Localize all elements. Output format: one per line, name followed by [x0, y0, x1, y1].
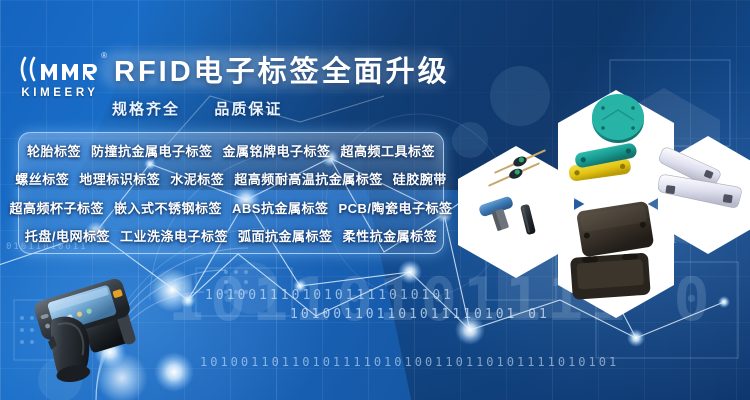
product-tag-label: 超高频工具标签	[341, 141, 436, 160]
product-tag-label: 防撞抗金属电子标签	[91, 141, 213, 160]
product-tag-label: 金属铭牌电子标签	[223, 141, 331, 160]
product-tag-label: 柔性抗金属标签	[343, 226, 438, 245]
glow-accent-1	[150, 268, 194, 312]
product-tag-label: 工业洗涤电子标签	[120, 226, 228, 245]
binary-text-mid-3: 1010011011010111101010011011010111101010…	[200, 355, 619, 369]
brand-name: KIMEERY	[14, 87, 106, 99]
binary-text-mid-1: 10100111010101111010101	[205, 288, 454, 303]
product-tag-label: 超高频杯子标签	[9, 198, 104, 217]
product-tag-label: 螺丝标签	[15, 169, 69, 188]
product-tag-label: 弧面抗金属标签	[238, 226, 333, 245]
tag-row: 轮胎标签防撞抗金属电子标签金属铭牌电子标签超高频工具标签	[19, 137, 443, 164]
subtitle-left: 规格齐全	[112, 101, 180, 118]
glow-accent-2	[96, 352, 148, 400]
tag-row: 超高频杯子标签嵌入式不锈钢标签ABS抗金属标签PCB/陶瓷电子标签	[19, 194, 443, 221]
hex-showcase	[458, 88, 750, 318]
product-tag-label: 托盘/电网标签	[25, 226, 110, 245]
product-tag-label: 超高频耐高温抗金属标签	[234, 169, 383, 188]
product-tag-label: 轮胎标签	[27, 141, 81, 160]
product-tag-panel: 轮胎标签防撞抗金属电子标签金属铭牌电子标签超高频工具标签 螺丝标签地理标识标签水…	[18, 132, 444, 254]
tag-row: 托盘/电网标签工业洗涤电子标签弧面抗金属标签柔性抗金属标签	[19, 223, 443, 250]
product-tag-label: ABS抗金属标签	[232, 198, 328, 217]
kimeery-logo-mark: ®	[14, 52, 106, 86]
product-tag-label: PCB/陶瓷电子标签	[338, 198, 452, 217]
page-title: RFID电子标签全面升级	[104, 48, 460, 90]
product-tag-label: 水泥标签	[170, 169, 224, 188]
page-title-text: RFID电子标签全面升级	[114, 48, 450, 90]
product-tag-label: 嵌入式不锈钢标签	[114, 198, 222, 217]
page-subtitle: 规格齐全 品质保证	[112, 98, 282, 119]
product-tag-label: 硅胶腕带	[393, 169, 447, 188]
rfid-promo-banner: 10110101111 0 10100111010101111010101 10…	[0, 0, 750, 400]
tag-row: 螺丝标签地理标识标签水泥标签超高频耐高温抗金属标签硅胶腕带	[19, 166, 443, 193]
product-tag-label: 地理标识标签	[79, 169, 160, 188]
subtitle-right: 品质保证	[214, 101, 282, 118]
kmr-monogram-icon	[17, 53, 103, 85]
brand-logo: ® KIMEERY	[14, 52, 106, 110]
